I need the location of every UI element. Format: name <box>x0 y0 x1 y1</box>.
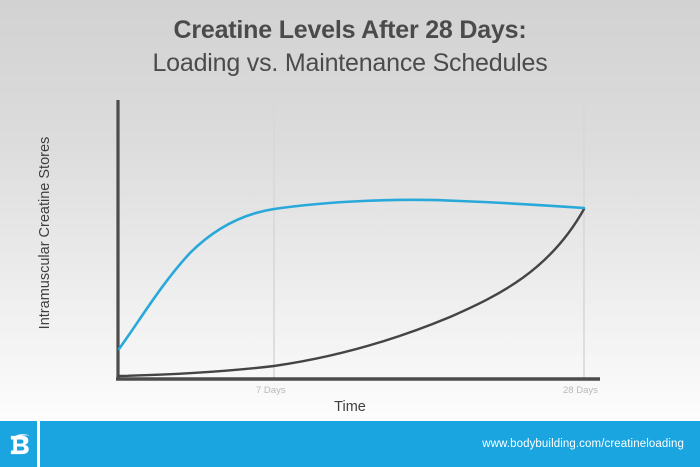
footer-url-text: www.bodybuilding.com/creatineloading <box>482 421 684 467</box>
x-tick-label-28-days: 28 Days <box>563 385 598 396</box>
chart-svg <box>0 95 700 395</box>
footer-divider <box>37 421 40 467</box>
footer-bar: www.bodybuilding.com/creatineloading <box>0 421 700 467</box>
x-tick-label-7-days: 7 Days <box>256 385 286 396</box>
x-axis-label: Time <box>0 399 700 415</box>
line-chart: Intramuscular Creatine Stores <box>0 95 700 395</box>
bodybuilding-b-logo <box>0 421 37 467</box>
title-line-primary: Creatine Levels After 28 Days: <box>0 14 700 46</box>
series-line-maintenance <box>119 209 584 376</box>
series-line-loading <box>119 200 584 349</box>
page-title: Creatine Levels After 28 Days: Loading v… <box>0 14 700 80</box>
b-logo-icon <box>6 431 32 457</box>
infographic-canvas: Creatine Levels After 28 Days: Loading v… <box>0 0 700 467</box>
title-line-secondary: Loading vs. Maintenance Schedules <box>0 46 700 80</box>
y-axis-label: Intramuscular Creatine Stores <box>37 98 53 368</box>
